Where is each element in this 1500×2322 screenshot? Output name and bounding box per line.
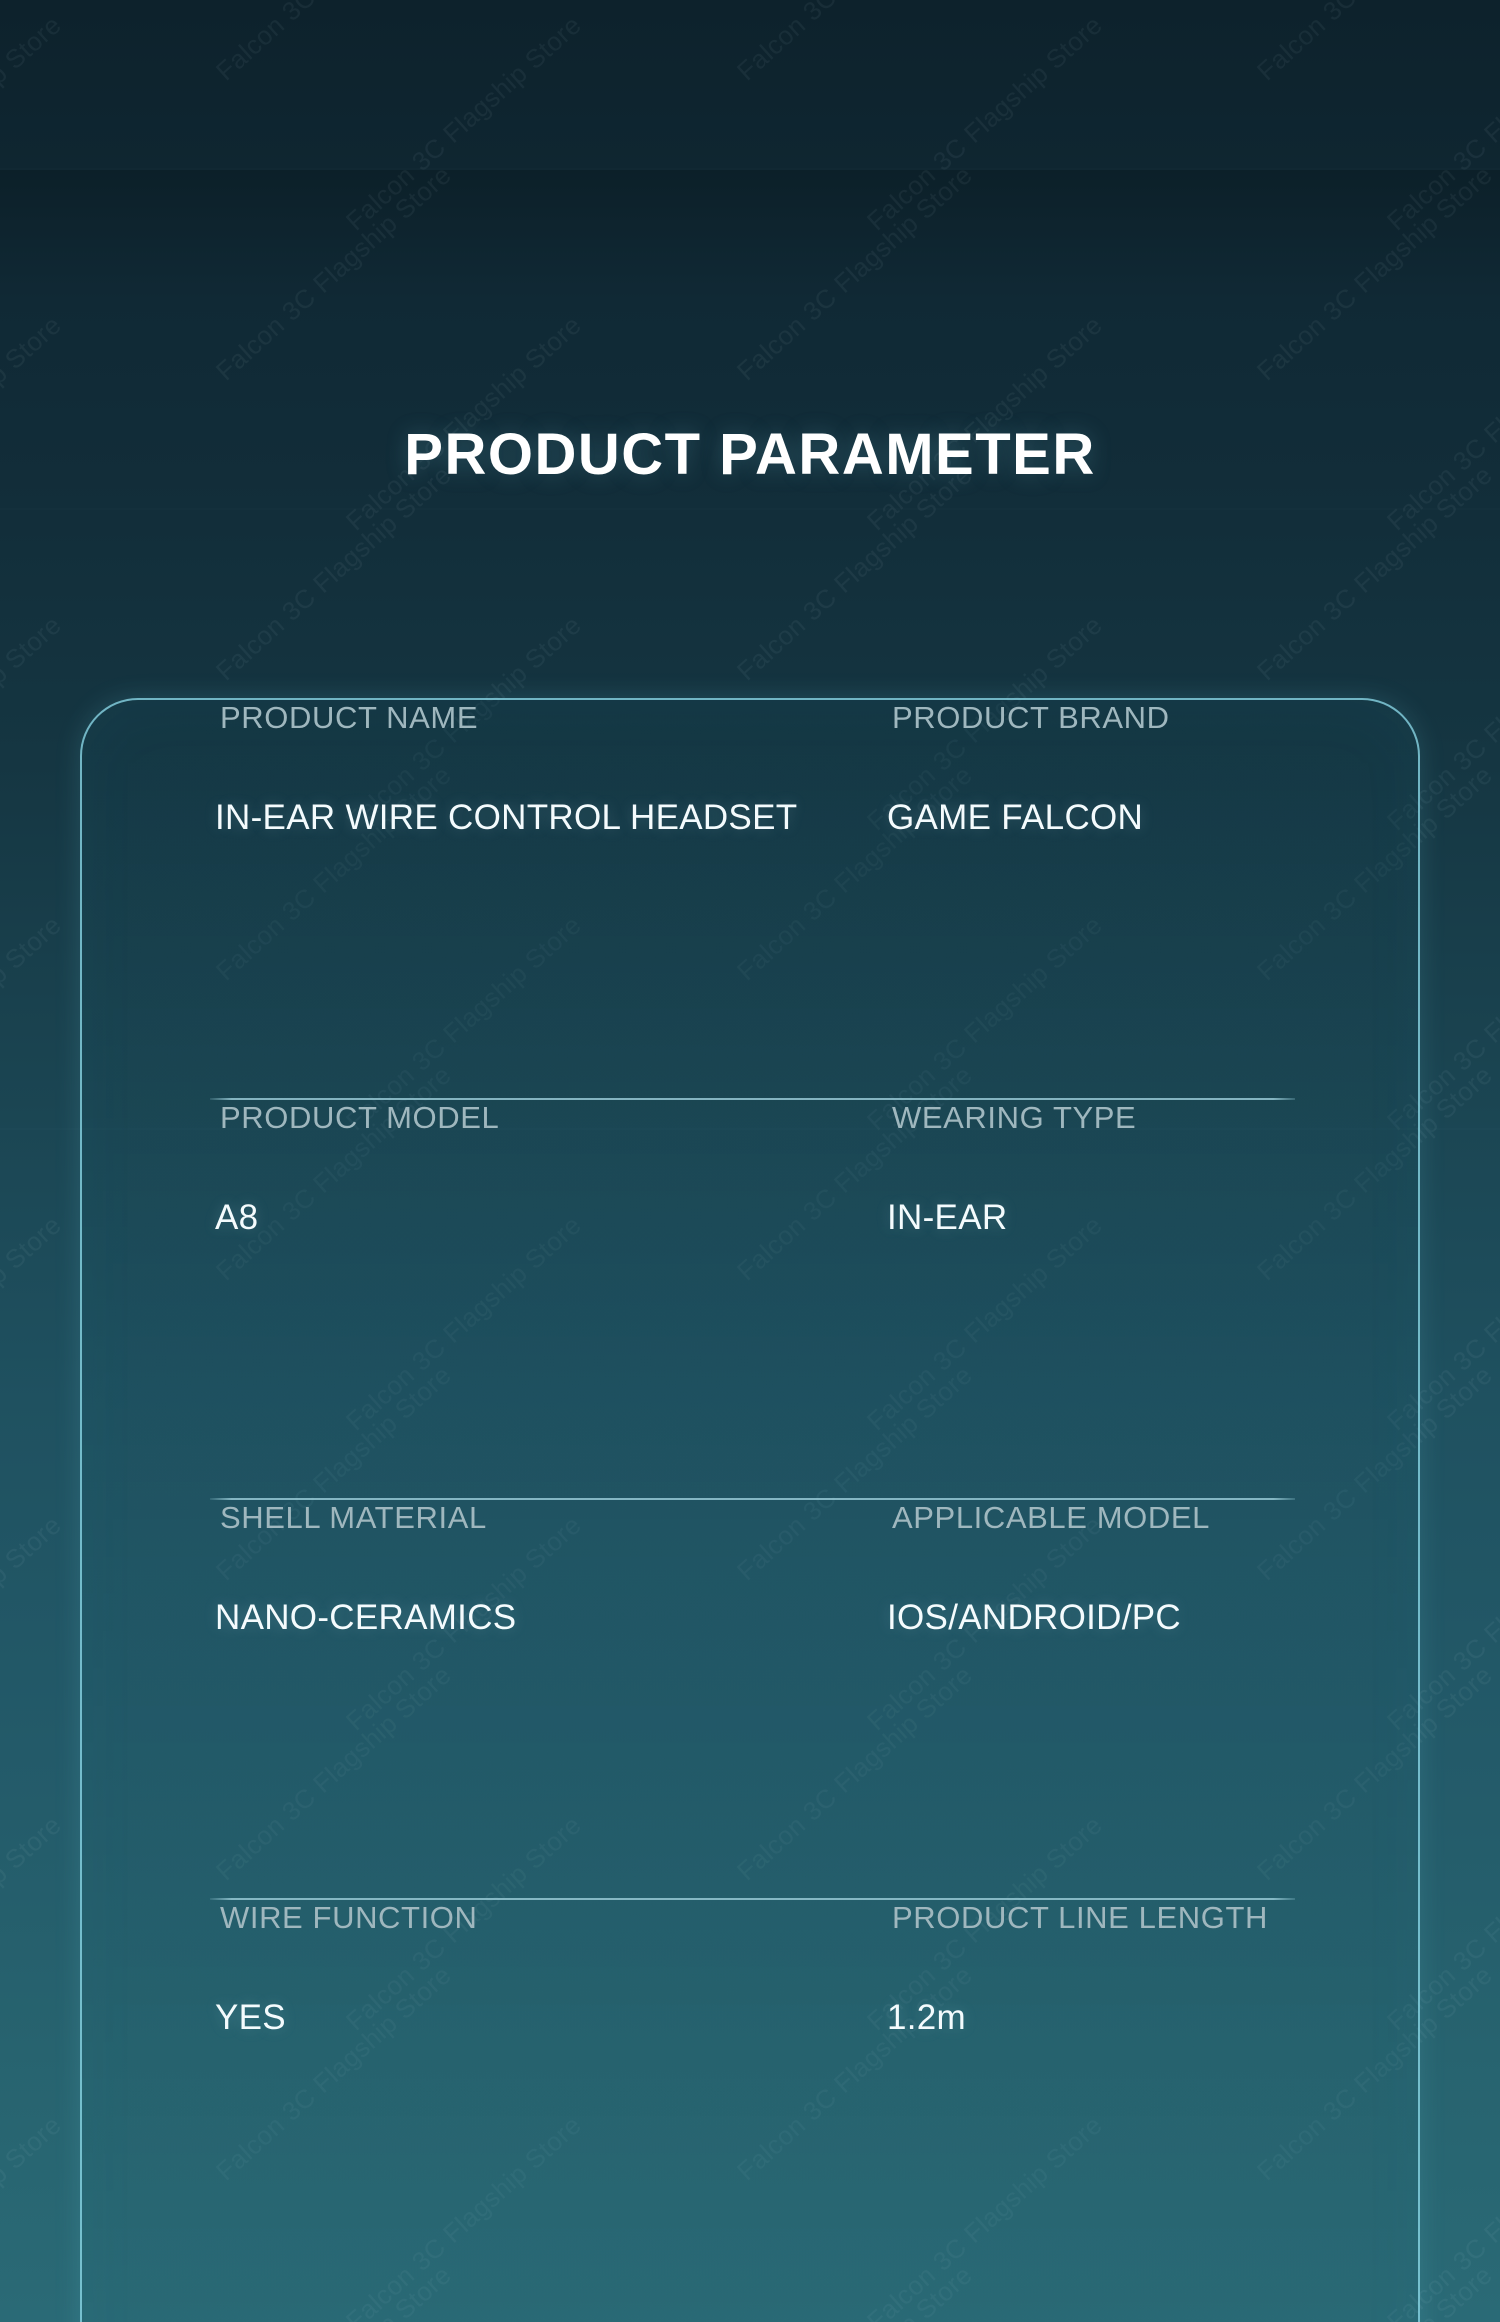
spec-card: PRODUCT NAME IN-EAR WIRE CONTROL HEADSET… xyxy=(80,698,1420,2322)
watermark-text: Falcon 3C Flagship Store xyxy=(691,115,1018,431)
spec-rows: PRODUCT NAME IN-EAR WIRE CONTROL HEADSET… xyxy=(82,700,1418,2300)
spec-cell: WEARING TYPE IN-EAR xyxy=(892,1100,1136,1238)
spec-cell: WIRE FUNCTION YES xyxy=(220,1900,478,2038)
watermark-text: Falcon 3C Flagship Store xyxy=(170,115,497,431)
watermark-row: Falcon 3C Flagship StoreFalcon 3C Flagsh… xyxy=(0,0,1500,150)
spec-label: PRODUCT LINE LENGTH xyxy=(892,1900,1268,1936)
watermark-text: Falcon 3C Flagship Store xyxy=(1211,115,1500,431)
spec-row: WIRE FUNCTION YES PRODUCT LINE LENGTH 1.… xyxy=(82,1900,1418,2300)
spec-cell: APPLICABLE MODEL IOS/ANDROID/PC xyxy=(892,1500,1210,1638)
spec-cell: PRODUCT BRAND GAME FALCON xyxy=(892,700,1170,838)
spec-label: PRODUCT MODEL xyxy=(220,1100,499,1136)
page-title: PRODUCT PARAMETER xyxy=(0,421,1500,488)
background-band xyxy=(0,508,1500,510)
watermark-text: Falcon 3C Flagship Store xyxy=(170,0,497,131)
watermark-text: Falcon 3C Flagship Store xyxy=(1341,0,1500,281)
spec-value: IN-EAR WIRE CONTROL HEADSET xyxy=(215,798,797,838)
watermark-text: Falcon 3C Flagship Store xyxy=(691,0,1018,131)
spec-label: PRODUCT BRAND xyxy=(892,700,1170,736)
spec-label: PRODUCT NAME xyxy=(220,700,797,736)
spec-label: APPLICABLE MODEL xyxy=(892,1500,1210,1536)
spec-label: WEARING TYPE xyxy=(892,1100,1136,1136)
spec-row: SHELL MATERIAL NANO-CERAMICS APPLICABLE … xyxy=(82,1500,1418,1900)
spec-value: 1.2m xyxy=(887,1998,1268,2038)
spec-row: PRODUCT MODEL A8 WEARING TYPE IN-EAR xyxy=(82,1100,1418,1500)
spec-cell: SHELL MATERIAL NANO-CERAMICS xyxy=(220,1500,516,1638)
watermark-text: Falcon 3C Flagship Store xyxy=(821,0,1148,281)
row-divider xyxy=(210,1898,1295,1900)
spec-cell: PRODUCT LINE LENGTH 1.2m xyxy=(892,1900,1268,2038)
background-band xyxy=(0,168,1500,170)
spec-cell: PRODUCT MODEL A8 xyxy=(220,1100,499,1238)
watermark-row: Falcon 3C Flagship StoreFalcon 3C Flagsh… xyxy=(0,150,1500,300)
spec-value: IN-EAR xyxy=(887,1198,1136,1238)
spec-value: YES xyxy=(215,1998,478,2038)
watermark-text: Falcon 3C Flagship Store xyxy=(1211,0,1500,131)
spec-value: A8 xyxy=(215,1198,499,1238)
spec-label: SHELL MATERIAL xyxy=(220,1500,516,1536)
spec-value: GAME FALCON xyxy=(887,798,1170,838)
row-divider xyxy=(210,1098,1295,1100)
spec-label: WIRE FUNCTION xyxy=(220,1900,478,1936)
watermark-text: Falcon 3C Flagship Store xyxy=(0,0,107,281)
product-parameter-page: Falcon 3C Flagship StoreFalcon 3C Flagsh… xyxy=(0,0,1500,2322)
spec-value: IOS/ANDROID/PC xyxy=(887,1598,1210,1638)
spec-cell: PRODUCT NAME IN-EAR WIRE CONTROL HEADSET xyxy=(220,700,797,838)
spec-value: NANO-CERAMICS xyxy=(215,1598,516,1638)
watermark-text: Falcon 3C Flagship Store xyxy=(300,0,627,281)
row-divider xyxy=(210,1498,1295,1500)
spec-row: PRODUCT NAME IN-EAR WIRE CONTROL HEADSET… xyxy=(82,700,1418,1100)
